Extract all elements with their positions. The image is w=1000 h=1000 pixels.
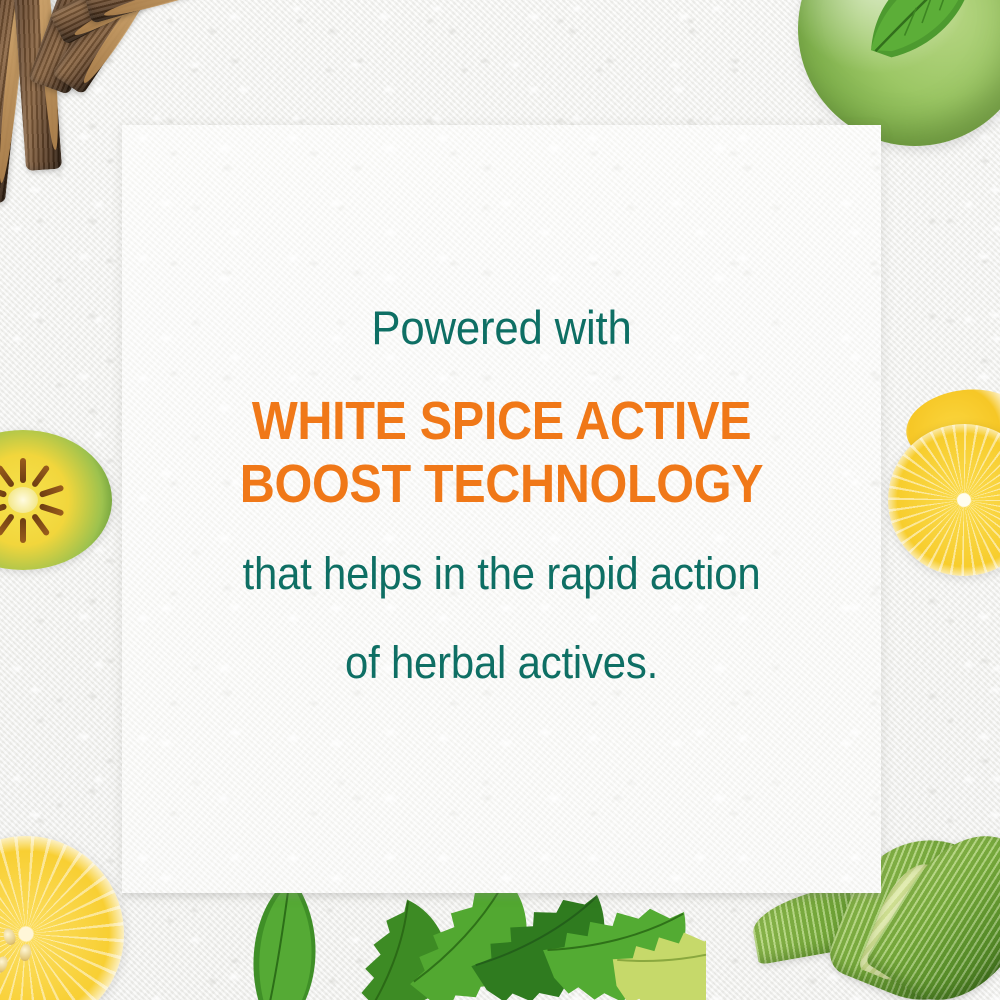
white-content-card	[122, 125, 881, 893]
fruit-seed	[31, 464, 51, 488]
fruit-seed	[20, 518, 26, 543]
fruit-seed	[39, 485, 65, 498]
fruit-seed	[0, 464, 15, 488]
fruit-seed	[0, 485, 7, 498]
fruit-core	[8, 487, 38, 513]
fruit-seed	[31, 513, 51, 537]
lemon-pip	[19, 943, 32, 961]
fruit-seed	[20, 458, 26, 483]
lemon-pip	[2, 927, 18, 947]
fruit-seed	[0, 503, 7, 516]
fruit-seed	[0, 513, 15, 537]
promo-banner: Powered with WHITE SPICE ACTIVE BOOST TE…	[0, 0, 1000, 1000]
fruit-seed	[39, 503, 65, 516]
lemon-pip	[0, 954, 10, 974]
